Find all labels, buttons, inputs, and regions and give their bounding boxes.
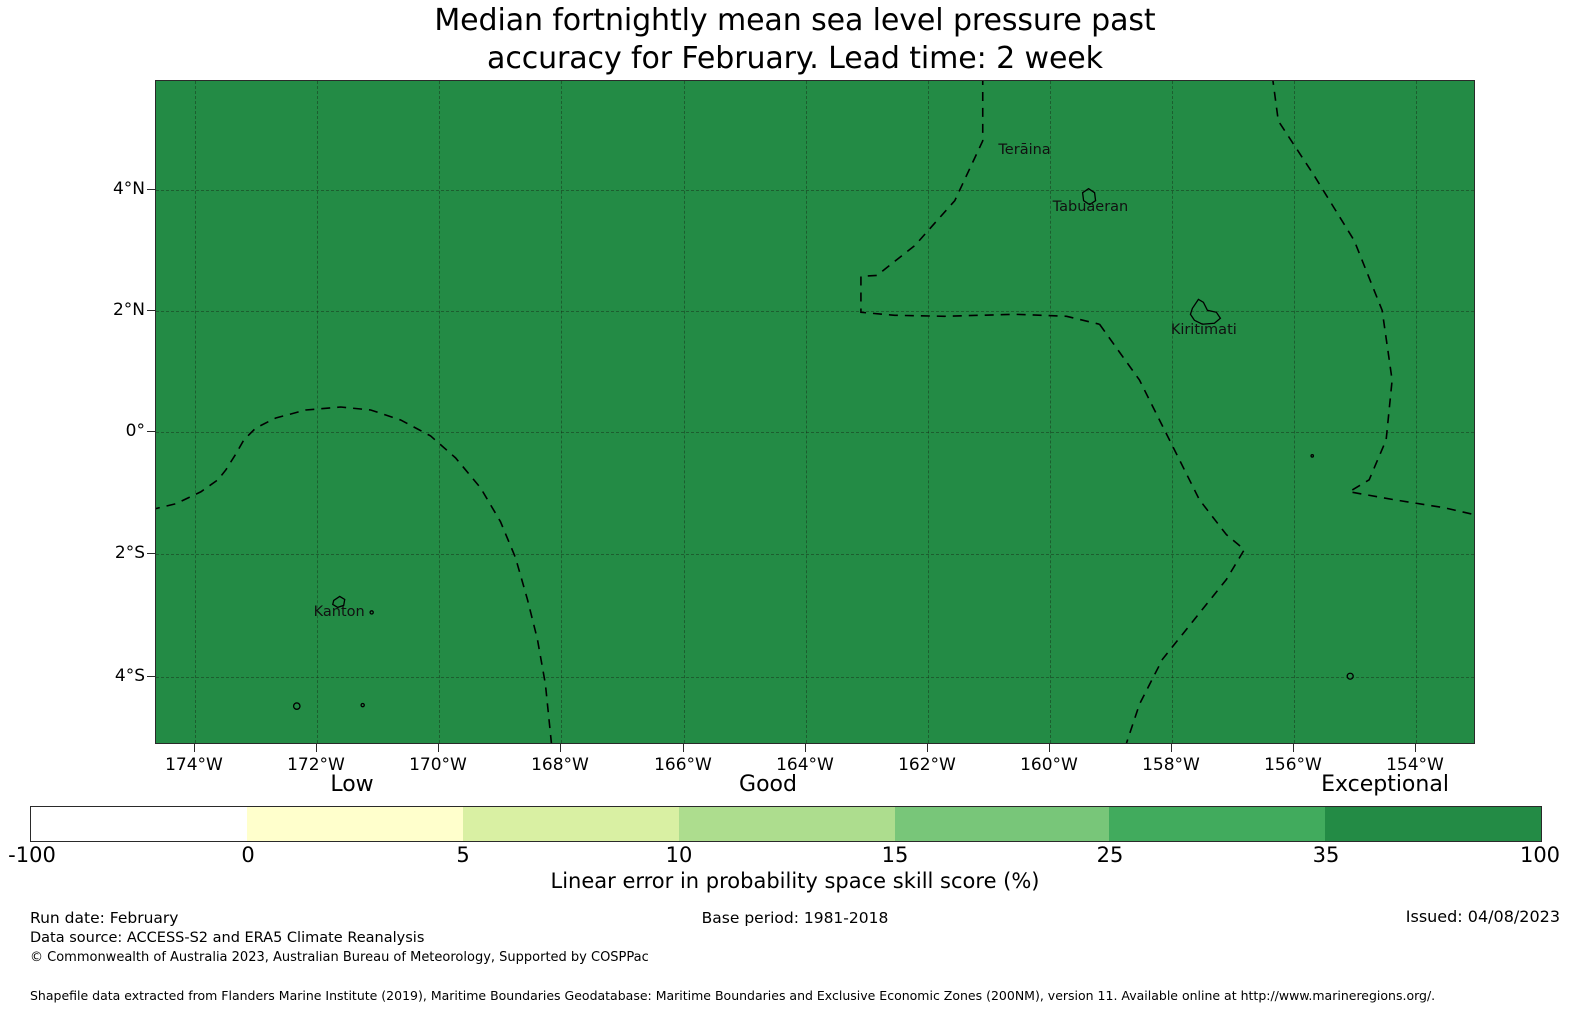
colorbar-segment-15-25 bbox=[895, 807, 1109, 841]
tick-mark-longitude bbox=[1049, 744, 1050, 752]
tick-mark-longitude bbox=[683, 744, 684, 752]
colorbar-category-exceptional: Exceptional bbox=[1321, 772, 1449, 797]
tick-mark-longitude bbox=[1415, 744, 1416, 752]
colorbar-tick: 100 bbox=[1520, 843, 1560, 867]
colorbar-axis-label: Linear error in probability space skill … bbox=[0, 869, 1590, 893]
footer-data-source: Data source: ACCESS-S2 and ERA5 Climate … bbox=[30, 928, 649, 948]
page-title: Median fortnightly mean sea level pressu… bbox=[0, 0, 1590, 78]
tick-mark-longitude bbox=[1293, 744, 1294, 752]
footer-base-period: Base period: 1981-2018 bbox=[0, 909, 1590, 927]
tick-mark-longitude bbox=[927, 744, 928, 752]
axis-label-latitude: 4°N bbox=[25, 179, 145, 199]
island-label-tabuaeran: Tabuaeran bbox=[1053, 199, 1129, 215]
colorbar-tick: 25 bbox=[1097, 843, 1124, 867]
colorbar-tick: 0 bbox=[241, 843, 254, 867]
colorbar-category-good: Good bbox=[739, 772, 797, 797]
tick-mark-latitude bbox=[147, 189, 155, 190]
axis-label-latitude: 2°N bbox=[25, 300, 145, 320]
island-label-kiritimati: Kiritimati bbox=[1171, 322, 1237, 338]
footer-shapefile-attribution: Shapefile data extracted from Flanders M… bbox=[30, 988, 1435, 1003]
colorbar-tick-labels: -100 0 5 10 15 25 35 100 bbox=[0, 843, 1590, 869]
colorbar-tick: -100 bbox=[8, 843, 56, 867]
colorbar-segment-0-5 bbox=[247, 807, 463, 841]
tick-mark-latitude bbox=[147, 431, 155, 432]
island-label-teraina: Terāina bbox=[998, 142, 1050, 158]
tick-mark-latitude bbox=[147, 553, 155, 554]
colorbar-tick: 15 bbox=[882, 843, 909, 867]
tick-mark-longitude bbox=[805, 744, 806, 752]
footer-copyright: © Commonwealth of Australia 2023, Austra… bbox=[30, 948, 649, 968]
colorbar-category-labels: Low Good Exceptional bbox=[0, 772, 1590, 800]
colorbar-segment-neg100-0 bbox=[31, 807, 247, 841]
colorbar-segment-5-10 bbox=[463, 807, 679, 841]
colorbar-tick: 35 bbox=[1313, 843, 1340, 867]
axis-label-latitude: 4°S bbox=[25, 666, 145, 686]
map-panel[interactable]: Terāina Tabuaeran Kiritimati Kanton bbox=[155, 80, 1475, 744]
island-label-kanton: Kanton bbox=[314, 604, 365, 620]
axis-label-latitude: 2°S bbox=[25, 543, 145, 563]
colorbar-tick: 5 bbox=[456, 843, 469, 867]
tick-mark-longitude bbox=[1171, 744, 1172, 752]
axis-label-latitude: 0° bbox=[25, 421, 145, 441]
colorbar[interactable] bbox=[30, 806, 1542, 842]
eez-boundary-overlay bbox=[156, 81, 1474, 743]
colorbar-segment-25-35 bbox=[1109, 807, 1325, 841]
colorbar-tick: 10 bbox=[666, 843, 693, 867]
tick-mark-latitude bbox=[147, 310, 155, 311]
tick-mark-longitude bbox=[194, 744, 195, 752]
tick-mark-latitude bbox=[147, 676, 155, 677]
tick-mark-longitude bbox=[316, 744, 317, 752]
colorbar-segment-35-100 bbox=[1325, 807, 1541, 841]
colorbar-category-low: Low bbox=[330, 772, 373, 797]
colorbar-segment-10-15 bbox=[679, 807, 895, 841]
footer-issued-date: Issued: 04/08/2023 bbox=[1406, 907, 1560, 926]
tick-mark-longitude bbox=[438, 744, 439, 752]
tick-mark-longitude bbox=[560, 744, 561, 752]
